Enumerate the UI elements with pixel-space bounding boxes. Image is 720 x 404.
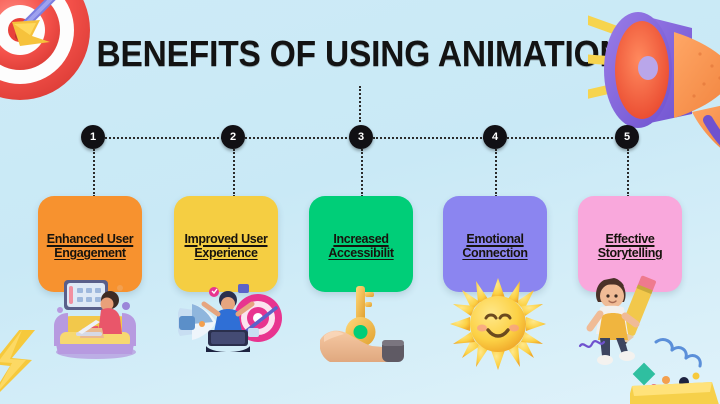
benefit-card-line1: Emotional xyxy=(466,232,523,246)
timeline-segment xyxy=(105,137,223,139)
benefit-card-line2: Engagement xyxy=(40,246,140,260)
benefit-card-5[interactable]: Effective Storytelling xyxy=(578,196,682,292)
timeline-node-1[interactable]: 1 xyxy=(81,125,105,149)
benefit-card-line2: Experience xyxy=(176,246,276,260)
benefit-card-4[interactable]: Emotional Connection xyxy=(443,196,547,292)
page-title: BENEFITS OF USING ANIMATION xyxy=(25,36,695,72)
benefit-card-label: Effective Storytelling xyxy=(580,232,680,260)
timeline-drop-line xyxy=(233,149,235,197)
benefit-card-label: Emotional Connection xyxy=(445,232,545,260)
benefit-card-label: Enhanced User Engagement xyxy=(40,232,140,260)
timeline-drop-line xyxy=(93,149,95,197)
timeline-node-label: 1 xyxy=(90,131,96,143)
timeline-node-3[interactable]: 3 xyxy=(349,125,373,149)
infographic-slide: BENEFITS OF USING ANIMATION 1 2 3 4 5 En… xyxy=(0,0,720,404)
benefit-card-line1: Improved User xyxy=(185,232,268,246)
benefit-card-3[interactable]: Increased Accessibilit xyxy=(309,196,413,292)
timeline-drop-line xyxy=(627,149,629,197)
timeline-node-label: 3 xyxy=(358,131,364,143)
benefit-card-line2: Connection xyxy=(445,246,545,260)
benefit-card-1[interactable]: Enhanced User Engagement xyxy=(38,196,142,292)
person-with-megaphone-and-target-icon xyxy=(178,280,282,362)
benefit-card-line2: Storytelling xyxy=(580,246,680,260)
benefit-card-line1: Effective xyxy=(606,232,655,246)
timeline-node-4[interactable]: 4 xyxy=(483,125,507,149)
key-and-hand-icon xyxy=(320,286,412,362)
title-connector-tick xyxy=(359,86,361,122)
megaphone-icon xyxy=(588,0,720,158)
timeline-node-label: 5 xyxy=(624,131,630,143)
benefit-card-line2: Accessibilit xyxy=(311,246,411,260)
timeline-node-5[interactable]: 5 xyxy=(615,125,639,149)
timeline-segment xyxy=(373,137,485,139)
benefit-card-line1: Enhanced User xyxy=(47,232,133,246)
timeline-node-2[interactable]: 2 xyxy=(221,125,245,149)
benefit-card-label: Improved User Experience xyxy=(176,232,276,260)
timeline-node-label: 2 xyxy=(230,131,236,143)
timeline-drop-line xyxy=(361,149,363,197)
benefit-card-label: Increased Accessibilit xyxy=(311,232,411,260)
benefit-card-line1: Increased xyxy=(333,232,388,246)
timeline-node-label: 4 xyxy=(492,131,498,143)
timeline-segment xyxy=(507,137,617,139)
lightning-bolt-icon xyxy=(0,330,68,404)
benefit-card-2[interactable]: Improved User Experience xyxy=(174,196,278,292)
confetti-box-icon xyxy=(630,324,720,404)
timeline-drop-line xyxy=(495,149,497,197)
timeline-segment xyxy=(245,137,351,139)
